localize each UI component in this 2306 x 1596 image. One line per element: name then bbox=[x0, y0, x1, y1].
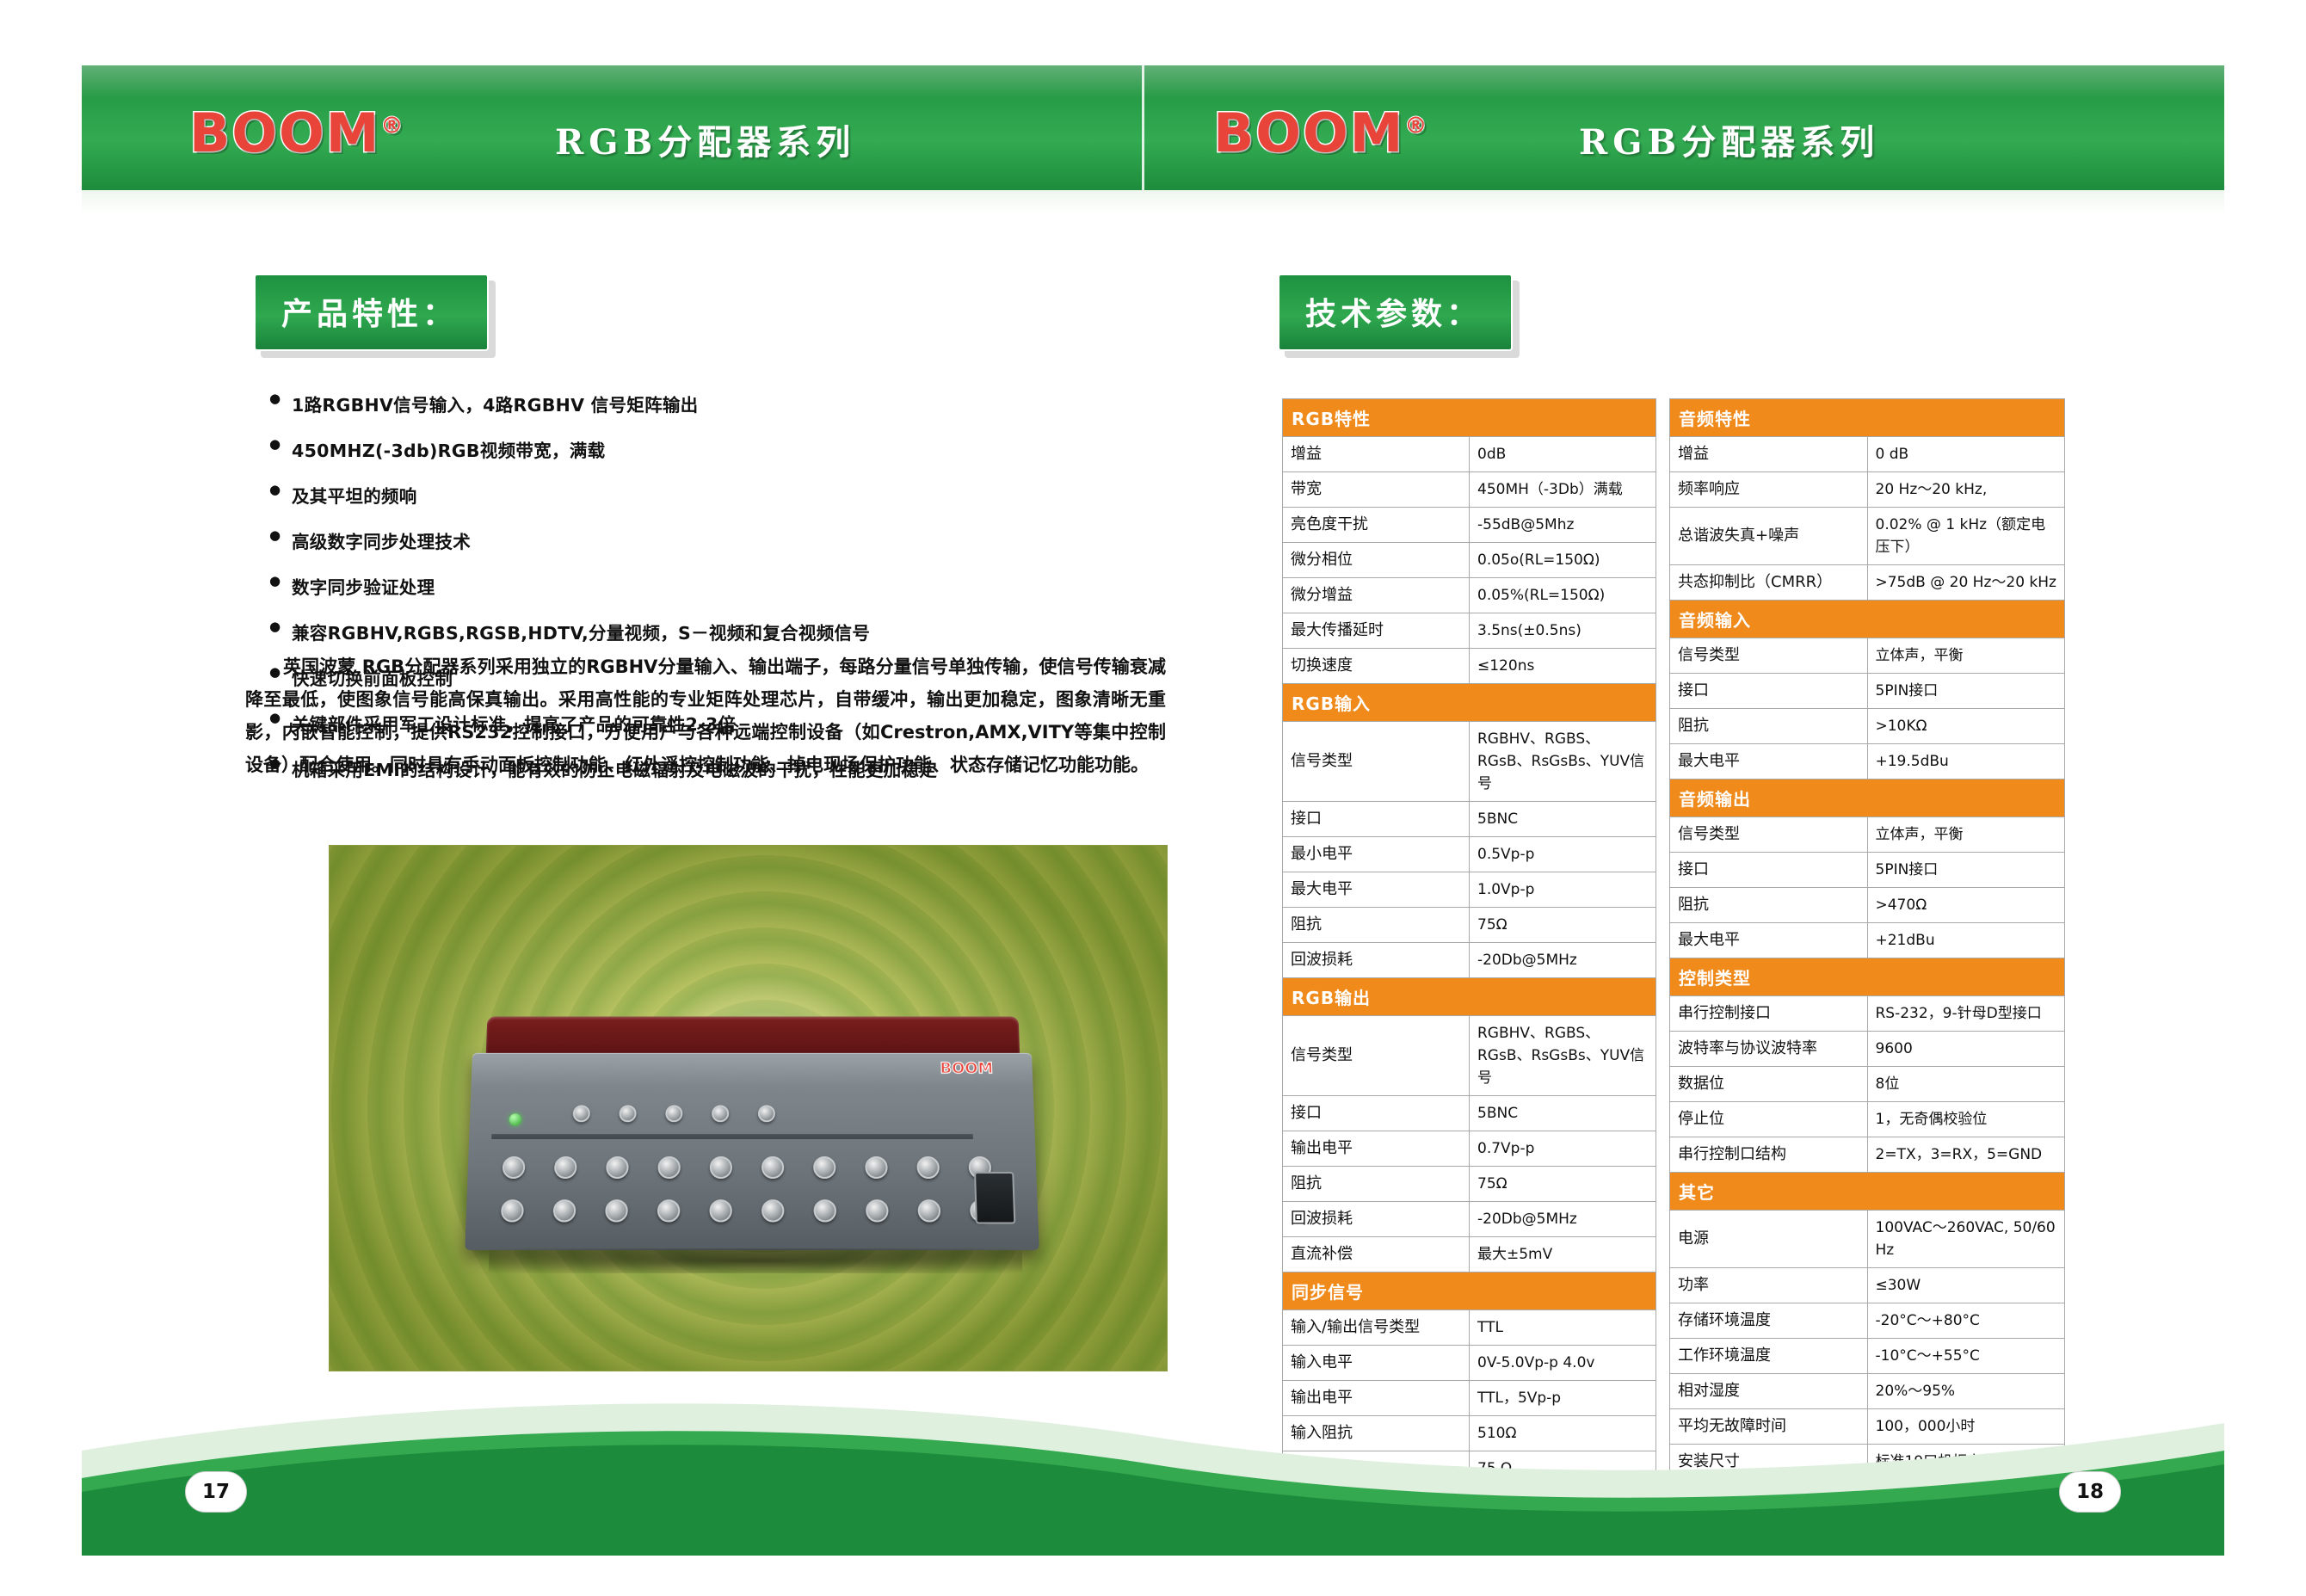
table-row: 共态抑制比（CMRR）>75dB @ 20 Hz～20 kHz bbox=[1670, 565, 2065, 601]
page-number-right: 18 bbox=[2059, 1471, 2121, 1513]
list-item: 高级数字同步处理技术 bbox=[269, 527, 1104, 553]
bnc-connector-icon bbox=[501, 1199, 524, 1222]
table-row: 阻抗>10KΩ bbox=[1670, 709, 2065, 744]
registered-mark-icon-2: ® bbox=[1404, 113, 1428, 139]
spec-value: RS-232，9-针母D型接口 bbox=[1867, 996, 2065, 1032]
device-button bbox=[619, 1105, 636, 1122]
brand-logo-left-text: BOOM bbox=[189, 102, 380, 164]
spec-key: 频率响应 bbox=[1670, 472, 1868, 508]
power-led-icon bbox=[509, 1113, 521, 1125]
table-row: 频率响应20 Hz～20 kHz, bbox=[1670, 472, 2065, 508]
device-button bbox=[712, 1105, 729, 1122]
product-description: 英国波蒙 RGB分配器系列采用独立的RGBHV分量输入、输出端子，每路分量信号单… bbox=[245, 650, 1166, 781]
table-row: 阻抗75Ω bbox=[1283, 1167, 1656, 1202]
spec-key: 回波损耗 bbox=[1283, 943, 1470, 978]
spec-key: 阻抗 bbox=[1283, 1167, 1470, 1202]
bnc-connector-icon bbox=[554, 1156, 577, 1179]
spec-value: 0V-5.0Vp-p 4.0v bbox=[1470, 1346, 1656, 1381]
section-title: 控制类型 bbox=[1670, 958, 2065, 996]
spec-key: 信号类型 bbox=[1670, 817, 1868, 853]
section-title: 同步信号 bbox=[1283, 1272, 1656, 1310]
spec-column-left: RGB特性 增益0dB 带宽450MH（-3Db）满载 亮色度干扰-55dB@5… bbox=[1282, 398, 1656, 1522]
power-switch-icon bbox=[974, 1172, 1015, 1224]
spec-key: 回波损耗 bbox=[1283, 1202, 1470, 1237]
spec-value: +19.5dBu bbox=[1867, 744, 2065, 780]
device-top-panel bbox=[486, 1016, 1020, 1056]
table-section-header: 音频输入 bbox=[1670, 601, 2065, 638]
table-row: 信号类型RGBHV、RGBS、RGsB、RsGsBs、YUV信号 bbox=[1283, 722, 1656, 802]
spec-key: 输入/输出信号类型 bbox=[1283, 1310, 1470, 1346]
spec-key: 信号类型 bbox=[1283, 722, 1470, 802]
table-row: 输出电平0.7Vp-p bbox=[1283, 1131, 1656, 1167]
device-logo: BOOM bbox=[940, 1060, 993, 1077]
table-row: 最大传播延时3.5ns(±0.5ns) bbox=[1283, 613, 1656, 649]
page-number-left: 17 bbox=[185, 1471, 247, 1513]
table-row: 亮色度干扰-55dB@5Mhz bbox=[1283, 508, 1656, 543]
spec-value: 75Ω bbox=[1470, 1167, 1656, 1202]
table-row: 存储环境温度-20°C～+80°C bbox=[1670, 1303, 2065, 1339]
spec-key: 总谐波失真+噪声 bbox=[1670, 508, 1868, 565]
table-row: 最大电平1.0Vp-p bbox=[1283, 872, 1656, 908]
table-section-header: 控制类型 bbox=[1670, 958, 2065, 996]
table-row: 增益0 dB bbox=[1670, 437, 2065, 472]
list-item: 1路RGBHV信号输入，4路RGBHV 信号矩阵输出 bbox=[269, 391, 1104, 416]
spec-value: 1.0Vp-p bbox=[1470, 872, 1656, 908]
header-divider bbox=[1142, 65, 1144, 190]
spec-key: 数据位 bbox=[1670, 1067, 1868, 1102]
spec-key: 信号类型 bbox=[1283, 1016, 1470, 1096]
spec-value: 0.5Vp-p bbox=[1470, 837, 1656, 872]
table-row: 阻抗>470Ω bbox=[1670, 888, 2065, 923]
spec-key: 微分增益 bbox=[1283, 578, 1470, 613]
spec-key: 最大电平 bbox=[1283, 872, 1470, 908]
table-row: 增益0dB bbox=[1283, 437, 1656, 472]
spec-key: 最大电平 bbox=[1670, 744, 1868, 780]
table-row: 输入电平0V-5.0Vp-p 4.0v bbox=[1283, 1346, 1656, 1381]
table-row: 微分增益0.05%(RL=150Ω) bbox=[1283, 578, 1656, 613]
spec-value: >10KΩ bbox=[1867, 709, 2065, 744]
table-row: 工作环境温度-10°C～+55°C bbox=[1670, 1339, 2065, 1374]
bnc-connector-icon bbox=[813, 1156, 835, 1179]
spec-key: 停止位 bbox=[1670, 1102, 1868, 1137]
spec-table-rgb-characteristics: RGB特性 增益0dB 带宽450MH（-3Db）满载 亮色度干扰-55dB@5… bbox=[1282, 398, 1656, 1522]
table-row: 回波损耗-20Db@5MHz bbox=[1283, 943, 1656, 978]
spec-value: 0.05o(RL=150Ω) bbox=[1470, 543, 1656, 578]
table-row: 电源100VAC～260VAC, 50/60 Hz bbox=[1670, 1211, 2065, 1268]
spec-key: 带宽 bbox=[1283, 472, 1470, 508]
spec-key: 波特率与协议波特率 bbox=[1670, 1032, 1868, 1067]
spec-key: 阻抗 bbox=[1670, 709, 1868, 744]
spec-value: 9600 bbox=[1867, 1032, 2065, 1067]
brand-logo-left: BOOM® bbox=[189, 102, 404, 164]
spec-key: 共态抑制比（CMRR） bbox=[1670, 565, 1868, 601]
footer-wave-shape bbox=[82, 1383, 2224, 1556]
spec-value: 立体声，平衡 bbox=[1867, 638, 2065, 674]
device-label-strip bbox=[491, 1134, 973, 1139]
brand-logo-right: BOOM® bbox=[1213, 102, 1428, 164]
spec-column-right: 音频特性 增益0 dB 频率响应20 Hz～20 kHz, 总谐波失真+噪声0.… bbox=[1669, 398, 2065, 1480]
table-row: 串行控制接口RS-232，9-针母D型接口 bbox=[1670, 996, 2065, 1032]
spec-key: 输入电平 bbox=[1283, 1346, 1470, 1381]
table-section-header: 同步信号 bbox=[1283, 1272, 1656, 1310]
table-row: 阻抗75Ω bbox=[1283, 908, 1656, 943]
spec-key: 最大电平 bbox=[1670, 923, 1868, 958]
table-row: 接口5PIN接口 bbox=[1670, 853, 2065, 888]
spec-value: 5BNC bbox=[1470, 802, 1656, 837]
table-row: 接口5PIN接口 bbox=[1670, 674, 2065, 709]
bnc-connector-icon bbox=[709, 1199, 731, 1222]
spec-value: -20°C～+80°C bbox=[1867, 1303, 2065, 1339]
table-row: 带宽450MH（-3Db）满载 bbox=[1283, 472, 1656, 508]
spec-key: 增益 bbox=[1670, 437, 1868, 472]
spec-value: -55dB@5Mhz bbox=[1470, 508, 1656, 543]
table-row: 串行控制口结构2=TX，3=RX，5=GND bbox=[1670, 1137, 2065, 1173]
device-connector-row-2 bbox=[501, 1199, 993, 1222]
list-item: 兼容RGBHV,RGBS,RGSB,HDTV,分量视频，S－视频和复合视频信号 bbox=[269, 619, 1104, 644]
spec-value: TTL bbox=[1470, 1310, 1656, 1346]
spec-key: 最小电平 bbox=[1283, 837, 1470, 872]
spec-value: 0.05%(RL=150Ω) bbox=[1470, 578, 1656, 613]
spec-key: 亮色度干扰 bbox=[1283, 508, 1470, 543]
spec-key: 切换速度 bbox=[1283, 649, 1470, 684]
spec-key: 阻抗 bbox=[1283, 908, 1470, 943]
spec-value: 100VAC～260VAC, 50/60 Hz bbox=[1867, 1211, 2065, 1268]
spec-key: 接口 bbox=[1283, 802, 1470, 837]
spec-key: 最大传播延时 bbox=[1283, 613, 1470, 649]
bnc-connector-icon bbox=[865, 1156, 888, 1179]
table-row: 信号类型立体声，平衡 bbox=[1670, 817, 2065, 853]
spec-key: 接口 bbox=[1670, 674, 1868, 709]
bnc-connector-icon bbox=[866, 1199, 889, 1222]
spec-key: 功率 bbox=[1670, 1268, 1868, 1303]
bnc-connector-icon bbox=[917, 1199, 940, 1222]
section-title: RGB输出 bbox=[1283, 978, 1656, 1016]
spec-key: 增益 bbox=[1283, 437, 1470, 472]
bnc-connector-icon bbox=[553, 1199, 576, 1222]
spec-value: +21dBu bbox=[1867, 923, 2065, 958]
bnc-connector-icon bbox=[605, 1199, 628, 1222]
spec-key: 电源 bbox=[1670, 1211, 1868, 1268]
table-row: 停止位1，无奇偶校验位 bbox=[1670, 1102, 2065, 1137]
spec-value: 8位 bbox=[1867, 1067, 2065, 1102]
table-row: 接口5BNC bbox=[1283, 1096, 1656, 1131]
footer-wave: 17 18 bbox=[82, 1383, 2224, 1556]
spec-value: 2=TX，3=RX，5=GND bbox=[1867, 1137, 2065, 1173]
bnc-connector-icon bbox=[503, 1156, 526, 1179]
section-title: RGB输入 bbox=[1283, 684, 1656, 722]
table-row: 波特率与协议波特率9600 bbox=[1670, 1032, 2065, 1067]
spec-value: -10°C～+55°C bbox=[1867, 1339, 2065, 1374]
table-section-header: RGB输入 bbox=[1283, 684, 1656, 722]
spec-value: -20Db@5MHz bbox=[1470, 1202, 1656, 1237]
spec-value: 20 Hz～20 kHz, bbox=[1867, 472, 2065, 508]
spec-value: 0dB bbox=[1470, 437, 1656, 472]
device-button bbox=[758, 1105, 775, 1122]
registered-mark-icon: ® bbox=[380, 113, 404, 139]
table-row: 功率≤30W bbox=[1670, 1268, 2065, 1303]
spec-value: 5PIN接口 bbox=[1867, 674, 2065, 709]
device-button-row bbox=[573, 1105, 775, 1122]
section-title: 音频输出 bbox=[1670, 780, 2065, 817]
product-photo: BOOM bbox=[329, 845, 1168, 1371]
table-row: 微分相位0.05o(RL=150Ω) bbox=[1283, 543, 1656, 578]
section-title: 其它 bbox=[1670, 1173, 2065, 1211]
features-section-title: 产品特性： bbox=[254, 274, 489, 351]
table-section-header: 音频输出 bbox=[1670, 780, 2065, 817]
bnc-connector-icon bbox=[657, 1199, 681, 1222]
table-row: 最大电平+19.5dBu bbox=[1670, 744, 2065, 780]
device-button bbox=[665, 1105, 682, 1122]
spec-key: 存储环境温度 bbox=[1670, 1303, 1868, 1339]
list-item: 数字同步验证处理 bbox=[269, 573, 1104, 599]
section-title: RGB特性 bbox=[1283, 399, 1656, 437]
header-gloss bbox=[82, 65, 2224, 98]
spec-value: >75dB @ 20 Hz～20 kHz bbox=[1867, 565, 2065, 601]
spec-value: 0 dB bbox=[1867, 437, 2065, 472]
spec-value: -20Db@5MHz bbox=[1470, 943, 1656, 978]
table-section-header: RGB特性 bbox=[1283, 399, 1656, 437]
spec-value: 立体声，平衡 bbox=[1867, 817, 2065, 853]
device-button bbox=[573, 1105, 590, 1122]
table-section-header: 其它 bbox=[1670, 1173, 2065, 1211]
device-connector-row-1 bbox=[503, 1156, 992, 1179]
spec-value: 0.7Vp-p bbox=[1470, 1131, 1656, 1167]
table-row: 数据位8位 bbox=[1670, 1067, 2065, 1102]
spec-value: 最大±5mV bbox=[1470, 1237, 1656, 1272]
section-title: 音频特性 bbox=[1670, 399, 2065, 437]
specs-section-title: 技术参数： bbox=[1278, 274, 1513, 351]
spec-key: 串行控制接口 bbox=[1670, 996, 1868, 1032]
spec-key: 信号类型 bbox=[1670, 638, 1868, 674]
spec-value: 75Ω bbox=[1470, 908, 1656, 943]
table-row: 接口5BNC bbox=[1283, 802, 1656, 837]
spec-key: 工作环境温度 bbox=[1670, 1339, 1868, 1374]
bnc-connector-icon bbox=[916, 1156, 940, 1179]
list-item: 450MHZ(-3db)RGB视频带宽，满载 bbox=[269, 436, 1104, 462]
table-row: 总谐波失真+噪声0.02% @ 1 kHz（额定电压下） bbox=[1670, 508, 2065, 565]
header-title-right: RGB分配器系列 bbox=[1579, 114, 1879, 164]
spec-key: 接口 bbox=[1283, 1096, 1470, 1131]
spec-value: 450MH（-3Db）满载 bbox=[1470, 472, 1656, 508]
table-row: 回波损耗-20Db@5MHz bbox=[1283, 1202, 1656, 1237]
table-row: 切换速度≤120ns bbox=[1283, 649, 1656, 684]
bnc-connector-icon bbox=[761, 1199, 784, 1222]
list-item: 及其平坦的频响 bbox=[269, 482, 1104, 508]
spec-value: 1，无奇偶校验位 bbox=[1867, 1102, 2065, 1137]
spec-value: 3.5ns(±0.5ns) bbox=[1470, 613, 1656, 649]
device-illustration: BOOM bbox=[453, 1016, 1049, 1272]
table-row: 信号类型立体声，平衡 bbox=[1670, 638, 2065, 674]
bnc-connector-icon bbox=[761, 1156, 784, 1179]
table-section-header: 音频特性 bbox=[1670, 399, 2065, 437]
table-row: 输入/输出信号类型TTL bbox=[1283, 1310, 1656, 1346]
brand-logo-right-text: BOOM bbox=[1213, 102, 1404, 164]
spec-key: 输出电平 bbox=[1283, 1131, 1470, 1167]
bnc-connector-icon bbox=[657, 1156, 680, 1179]
table-row: 直流补偿最大±5mV bbox=[1283, 1237, 1656, 1272]
table-row: 最小电平0.5Vp-p bbox=[1283, 837, 1656, 872]
bnc-connector-icon bbox=[814, 1199, 837, 1222]
spec-value: 5PIN接口 bbox=[1867, 853, 2065, 888]
spec-value: RGBHV、RGBS、RGsB、RsGsBs、YUV信号 bbox=[1470, 722, 1656, 802]
table-section-header: RGB输出 bbox=[1283, 978, 1656, 1016]
table-row: 最大电平+21dBu bbox=[1670, 923, 2065, 958]
spec-key: 串行控制口结构 bbox=[1670, 1137, 1868, 1173]
bnc-connector-icon bbox=[606, 1156, 629, 1179]
spec-value: RGBHV、RGBS、RGsB、RsGsBs、YUV信号 bbox=[1470, 1016, 1656, 1096]
spec-table-audio-control: 音频特性 增益0 dB 频率响应20 Hz～20 kHz, 总谐波失真+噪声0.… bbox=[1669, 398, 2065, 1480]
header-title-left: RGB分配器系列 bbox=[555, 114, 855, 164]
spec-value: ≤30W bbox=[1867, 1268, 2065, 1303]
device-front-panel: BOOM bbox=[465, 1053, 1039, 1250]
spec-key: 阻抗 bbox=[1670, 888, 1868, 923]
spec-key: 接口 bbox=[1670, 853, 1868, 888]
spec-value: ≤120ns bbox=[1470, 649, 1656, 684]
spec-key: 直流补偿 bbox=[1283, 1237, 1470, 1272]
spec-value: 0.02% @ 1 kHz（额定电压下） bbox=[1867, 508, 2065, 565]
device-shadow bbox=[489, 1248, 1023, 1273]
spec-key: 微分相位 bbox=[1283, 543, 1470, 578]
brochure-page: BOOM® RGB分配器系列 BOOM® RGB分配器系列 产品特性： 技术参数… bbox=[82, 33, 2224, 1556]
spec-value: >470Ω bbox=[1867, 888, 2065, 923]
bnc-connector-icon bbox=[710, 1156, 732, 1179]
spec-value: 5BNC bbox=[1470, 1096, 1656, 1131]
header-underlay bbox=[82, 190, 2224, 214]
table-row: 信号类型RGBHV、RGBS、RGsB、RsGsBs、YUV信号 bbox=[1283, 1016, 1656, 1096]
section-title: 音频输入 bbox=[1670, 601, 2065, 638]
